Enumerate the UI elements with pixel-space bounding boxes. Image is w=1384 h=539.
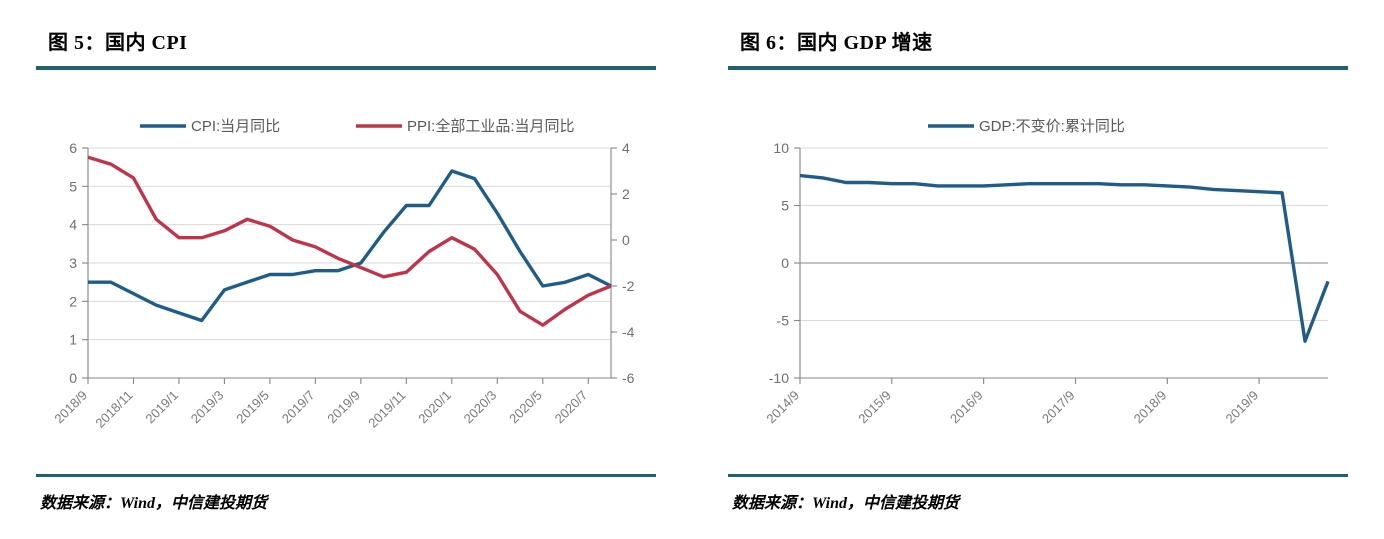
page-title-figure-5: 图 5：国内 CPI — [48, 26, 187, 55]
x-axis-tick-label: 2020/5 — [506, 388, 545, 427]
y-axis-right-tick-label: -4 — [622, 324, 635, 340]
cpi-line-chart: 0123456-6-4-20242018/92018/112019/12019/… — [36, 100, 666, 460]
x-axis-tick-label: 2020/3 — [461, 388, 500, 427]
y-axis-right-tick-label: 4 — [622, 140, 630, 156]
legend-label-2: PPI:全部工业品:当月同比 — [407, 117, 575, 135]
x-axis-tick-label: 2019/3 — [188, 388, 227, 427]
y-axis-right-tick-label: -6 — [622, 370, 635, 386]
legend-label-1: CPI:当月同比 — [191, 118, 280, 135]
series-line-1 — [800, 176, 1328, 342]
y-axis-right-tick-label: 2 — [622, 186, 630, 202]
x-axis-tick-label: 2018/9 — [51, 388, 90, 427]
source-divider-left — [36, 474, 656, 477]
x-axis-tick-label: 2019/9 — [1223, 388, 1262, 427]
y-axis-left-tick-label: 4 — [69, 217, 77, 233]
title-divider-left — [36, 66, 656, 70]
x-axis-tick-label: 2020/1 — [415, 388, 454, 427]
y-axis-left-tick-label: 1 — [69, 332, 77, 348]
y-axis-left-tick-label: 5 — [781, 198, 789, 214]
source-note-left: 数据来源：Wind，中信建投期货 — [40, 489, 267, 513]
source-note-right: 数据来源：Wind，中信建投期货 — [732, 489, 959, 513]
x-axis-tick-label: 2019/9 — [324, 388, 363, 427]
x-axis-tick-label: 2019/7 — [279, 388, 318, 427]
x-axis-tick-label: 2019/1 — [142, 388, 181, 427]
y-axis-left-tick-label: 0 — [69, 370, 77, 386]
gdp-chart-container: -10-505102014/92015/92016/92017/92018/92… — [728, 100, 1358, 460]
x-axis-tick-label: 2020/7 — [552, 388, 591, 427]
x-axis-tick-label: 2018/11 — [92, 388, 135, 431]
x-axis-tick-label: 2016/9 — [947, 388, 986, 427]
report-figures-page: 图 5：国内 CPI 0123456-6-4-20242018/92018/11… — [0, 0, 1384, 539]
gdp-panel: 图 6：国内 GDP 增速 -10-505102014/92015/92016/… — [692, 0, 1384, 539]
x-axis-tick-label: 2019/5 — [233, 388, 272, 427]
title-divider-right — [728, 66, 1348, 70]
x-axis-tick-label: 2014/9 — [763, 388, 802, 427]
x-axis-tick-label: 2015/9 — [855, 388, 894, 427]
x-axis-tick-label: 2019/11 — [365, 388, 408, 431]
y-axis-left-tick-label: 2 — [69, 293, 77, 309]
legend-label-1: GDP:不变价:累计同比 — [979, 118, 1125, 135]
series-line-1 — [88, 171, 611, 321]
y-axis-left-tick-label: -10 — [769, 370, 789, 386]
series-line-2 — [88, 157, 611, 325]
y-axis-left-tick-label: 3 — [69, 255, 77, 271]
y-axis-left-tick-label: 0 — [781, 255, 789, 271]
x-axis-tick-label: 2017/9 — [1039, 388, 1078, 427]
cpi-panel: 图 5：国内 CPI 0123456-6-4-20242018/92018/11… — [0, 0, 692, 539]
y-axis-right-tick-label: 0 — [622, 232, 630, 248]
y-axis-left-tick-label: 10 — [773, 140, 789, 156]
y-axis-left-tick-label: 5 — [69, 178, 77, 194]
y-axis-left-tick-label: -5 — [777, 313, 790, 329]
page-title-figure-6: 图 6：国内 GDP 增速 — [740, 26, 933, 55]
y-axis-right-tick-label: -2 — [622, 278, 635, 294]
gdp-line-chart: -10-505102014/92015/92016/92017/92018/92… — [728, 100, 1358, 460]
x-axis-tick-label: 2018/9 — [1131, 388, 1170, 427]
y-axis-left-tick-label: 6 — [69, 140, 77, 156]
cpi-chart-container: 0123456-6-4-20242018/92018/112019/12019/… — [36, 100, 666, 460]
source-divider-right — [728, 474, 1348, 477]
